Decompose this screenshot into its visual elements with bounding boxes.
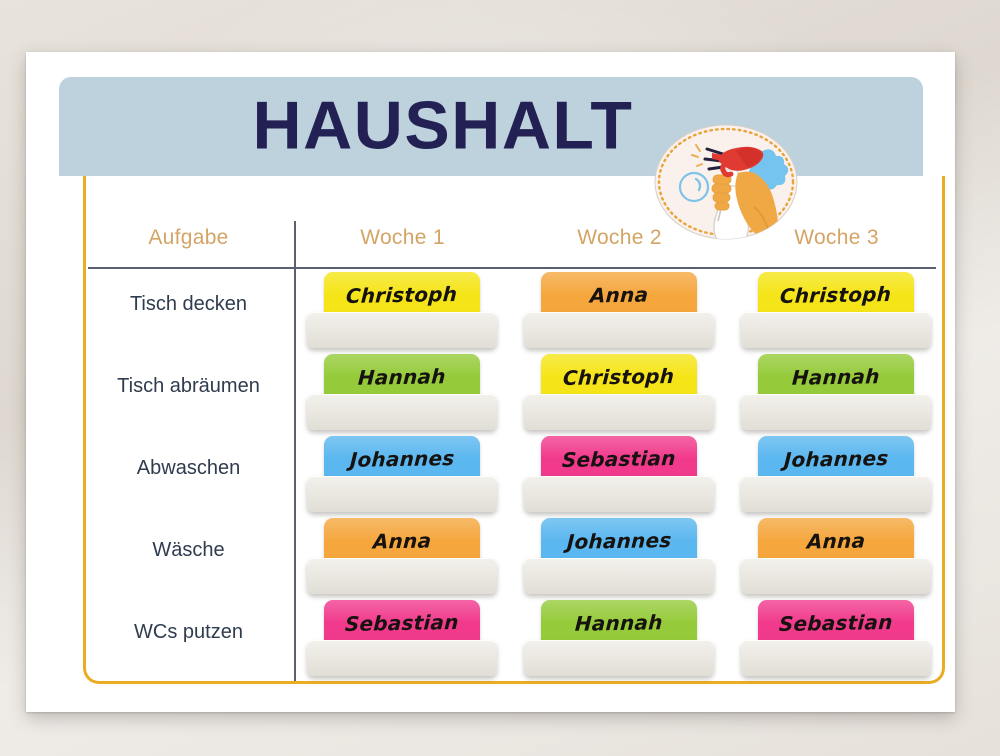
task-label: Tisch decken <box>83 284 294 324</box>
name-card-base <box>741 476 931 512</box>
name-card-grid: Christoph Anna Christoph Hannah <box>294 272 945 682</box>
name-card[interactable]: Christoph <box>524 354 714 430</box>
name-card[interactable]: Johannes <box>524 518 714 594</box>
task-label: Wäsche <box>83 530 294 570</box>
name-card[interactable]: Anna <box>307 518 497 594</box>
name-card-label: Hannah <box>357 364 446 390</box>
name-card[interactable]: Anna <box>524 272 714 348</box>
name-card-label: Christoph <box>780 282 893 308</box>
name-card[interactable]: Hannah <box>741 354 931 430</box>
name-card-base <box>524 640 714 676</box>
name-card[interactable]: Christoph <box>741 272 931 348</box>
name-card-base <box>741 394 931 430</box>
column-header-woche-1: Woche 1 <box>294 226 511 250</box>
name-card-base <box>524 394 714 430</box>
name-card[interactable]: Sebastian <box>307 600 497 676</box>
name-card-label: Hannah <box>574 610 663 636</box>
name-card-label: Christoph <box>563 364 676 390</box>
name-card-label: Anna <box>589 282 649 307</box>
spray-bottle-icon <box>650 123 802 241</box>
task-column: Tisch decken Tisch abräumen Abwaschen Wä… <box>83 272 294 682</box>
name-card[interactable]: Sebastian <box>741 600 931 676</box>
name-card[interactable]: Sebastian <box>524 436 714 512</box>
chore-table: Aufgabe Woche 1 Woche 2 Woche 3 Tisch de… <box>83 176 945 684</box>
column-header-aufgabe: Aufgabe <box>83 226 294 250</box>
name-card[interactable]: Hannah <box>524 600 714 676</box>
name-card-base <box>524 558 714 594</box>
name-card-base <box>741 640 931 676</box>
task-label: Abwaschen <box>83 448 294 488</box>
task-label: Tisch abräumen <box>83 366 294 406</box>
name-card[interactable]: Johannes <box>307 436 497 512</box>
name-card-label: Christoph <box>346 282 459 308</box>
table-header-row: Aufgabe Woche 1 Woche 2 Woche 3 <box>83 226 945 266</box>
name-card-label: Sebastian <box>778 610 893 636</box>
name-card-label: Anna <box>372 528 432 553</box>
name-card-base <box>524 312 714 348</box>
name-card-label: Anna <box>806 528 866 553</box>
name-card-base <box>307 394 497 430</box>
name-card-base <box>307 640 497 676</box>
poster-sheet: HAUSHALT <box>26 52 955 712</box>
name-card-base <box>524 476 714 512</box>
header-divider <box>88 267 936 269</box>
name-card-base <box>307 558 497 594</box>
task-label: WCs putzen <box>83 612 294 652</box>
name-card-label: Sebastian <box>561 446 676 472</box>
name-card-label: Johannes <box>566 528 672 554</box>
name-card-label: Johannes <box>349 446 455 472</box>
name-card[interactable]: Christoph <box>307 272 497 348</box>
name-card[interactable]: Anna <box>741 518 931 594</box>
name-card-base <box>741 312 931 348</box>
name-card[interactable]: Johannes <box>741 436 931 512</box>
name-card-label: Johannes <box>783 446 889 472</box>
name-card-base <box>307 476 497 512</box>
name-card[interactable]: Hannah <box>307 354 497 430</box>
name-card-label: Hannah <box>791 364 880 390</box>
name-card-label: Sebastian <box>344 610 459 636</box>
name-card-base <box>307 312 497 348</box>
name-card-base <box>741 558 931 594</box>
